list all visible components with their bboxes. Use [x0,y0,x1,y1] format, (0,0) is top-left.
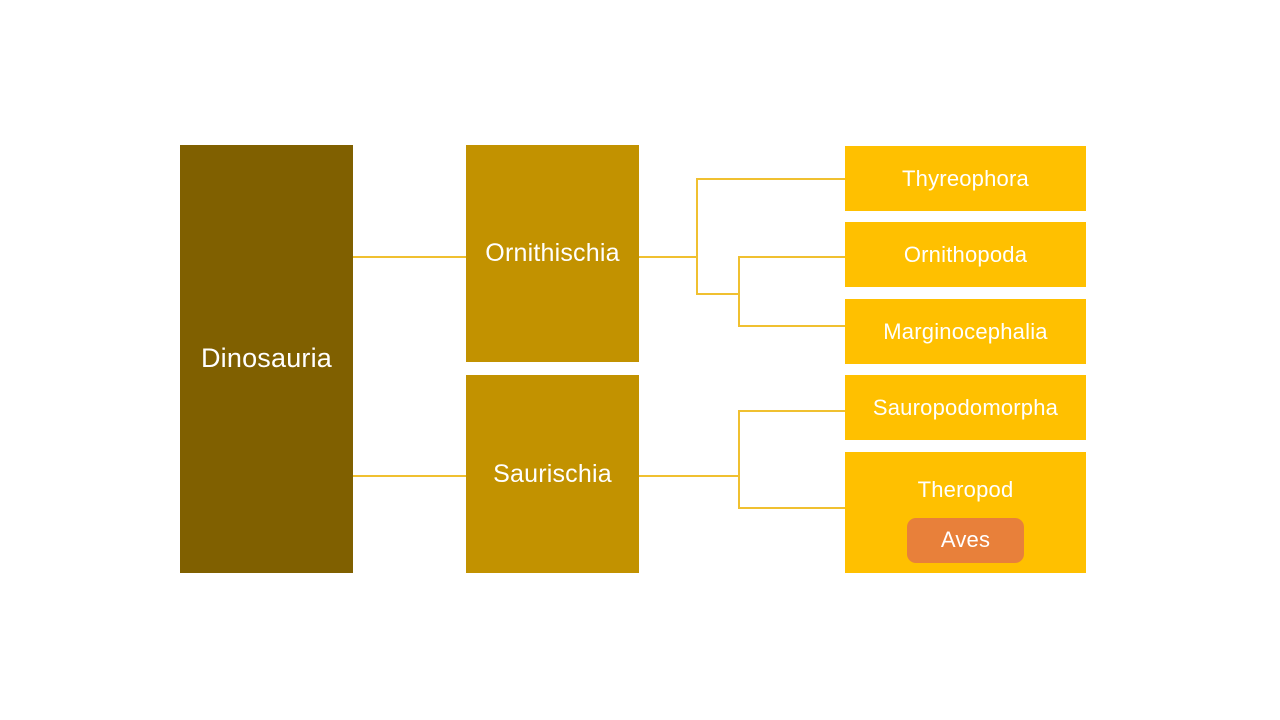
node-saurischia-label: Saurischia [493,460,612,489]
node-theropod-label: Theropod [918,477,1014,502]
node-aves-chip[interactable]: Aves [907,518,1024,562]
node-marginocephalia[interactable]: Marginocephalia [845,299,1086,364]
connector-to-ornithopoda [738,256,845,258]
connector-ornithopoda-marginocephalia-bracket [738,256,740,326]
connector-ornithischia-inner-stub [696,293,739,295]
node-saurischia[interactable]: Saurischia [466,375,639,573]
connector-ornithischia-stub [639,256,697,258]
node-ornithopoda-label: Ornithopoda [904,242,1027,267]
connector-root-to-ornithischia [353,256,467,258]
connector-to-thyreophora [696,178,845,180]
node-dinosauria[interactable]: Dinosauria [180,145,353,573]
node-theropod[interactable]: Theropod Aves [845,452,1086,573]
node-thyreophora[interactable]: Thyreophora [845,146,1086,211]
cladogram-canvas: Dinosauria Ornithischia Saurischia Thyre… [0,0,1280,720]
connector-root-to-saurischia [353,475,467,477]
node-dinosauria-label: Dinosauria [201,343,332,374]
node-marginocephalia-label: Marginocephalia [883,319,1047,344]
node-sauropodomorpha-label: Sauropodomorpha [873,395,1058,420]
node-ornithischia-label: Ornithischia [485,239,619,268]
connector-to-sauropodomorpha [738,410,845,412]
node-ornithischia[interactable]: Ornithischia [466,145,639,362]
connector-to-marginocephalia [738,325,845,327]
node-sauropodomorpha[interactable]: Sauropodomorpha [845,375,1086,440]
connector-to-theropod [738,507,845,509]
node-thyreophora-label: Thyreophora [902,166,1029,191]
connector-saurischia-stub [639,475,739,477]
node-ornithopoda[interactable]: Ornithopoda [845,222,1086,287]
connector-ornithischia-bracket [696,178,698,295]
connector-saurischia-bracket [738,410,740,509]
